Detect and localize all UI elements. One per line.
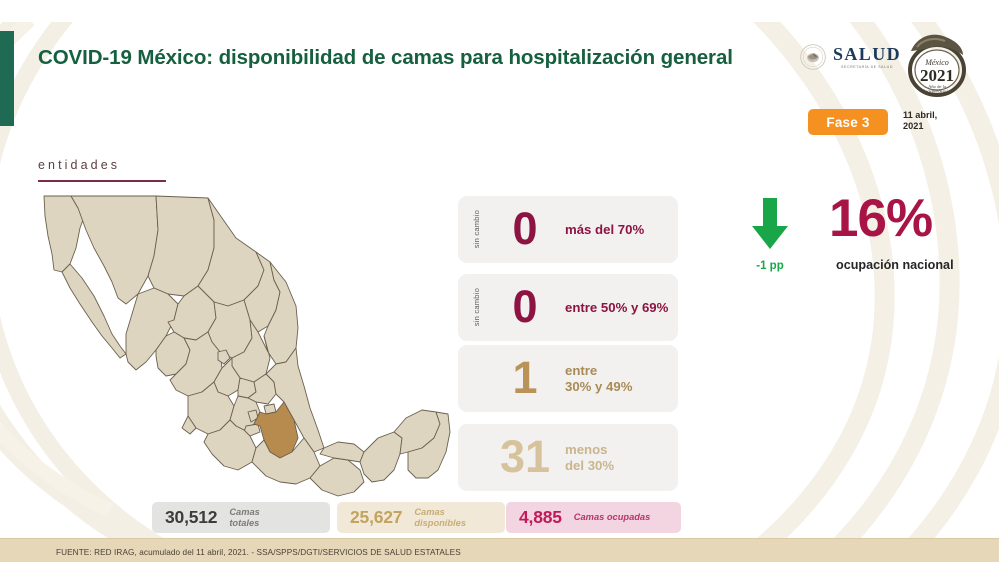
- emblem-year-text: 2021: [920, 66, 954, 85]
- mexico-map-svg: [8, 186, 458, 501]
- state-campeche: [360, 432, 402, 482]
- stat-card-label: entre 30% y 49%: [565, 363, 632, 393]
- salud-subtitle: SECRETARÍA DE SALUD: [833, 65, 901, 69]
- beds-total-value: 30,512: [165, 507, 217, 528]
- stat-card-trend-note: sin cambio: [458, 196, 494, 263]
- salud-logo: SALUD SECRETARÍA DE SALUD: [800, 44, 901, 70]
- national-occupancy-caption: ocupación nacional: [836, 258, 954, 272]
- beds-occupied-box[interactable]: 4,885 Camas ocupadas: [506, 502, 681, 533]
- stat-card-trend-note: [458, 424, 494, 491]
- report-date-line1: 11 abril,: [903, 110, 937, 121]
- stat-card-below-30[interactable]: 31 menos del 30%: [458, 424, 678, 491]
- salud-wordmark: SALUD: [833, 45, 901, 63]
- beds-total-box[interactable]: 30,512 Camas totales: [152, 502, 330, 533]
- footer-source-text: FUENTE: RED IRAG, acumulado del 11 abril…: [56, 548, 461, 557]
- fase-badge[interactable]: Fase 3: [808, 109, 888, 135]
- mexico-choropleth-map[interactable]: [8, 186, 458, 501]
- stat-card-30-49[interactable]: 1 entre 30% y 49%: [458, 345, 678, 412]
- beds-total-label: Camas totales: [229, 507, 260, 529]
- stat-card-label: entre 50% y 69%: [565, 300, 668, 315]
- slide-canvas: COVID-19 México: disponibilidad de camas…: [0, 0, 999, 562]
- national-trend: -1 pp: [741, 196, 799, 272]
- report-date: 11 abril, 2021: [903, 110, 937, 132]
- stat-card-label: más del 70%: [565, 222, 644, 237]
- page-title: COVID-19 México: disponibilidad de camas…: [38, 46, 733, 70]
- arrow-down-icon: [747, 196, 793, 252]
- beds-available-label: Camas disponibles: [414, 507, 466, 529]
- stat-card-label: menos del 30%: [565, 442, 614, 472]
- stat-card-above-70[interactable]: sin cambio 0 más del 70%: [458, 196, 678, 263]
- beds-available-value: 25,627: [350, 507, 402, 528]
- stat-card-trend-note: sin cambio: [458, 274, 494, 341]
- stat-card-value: 0: [494, 286, 556, 329]
- national-occupancy-percent: 16%: [829, 192, 932, 245]
- section-label-entidades: entidades: [38, 158, 120, 172]
- stat-card-trend-note: [458, 345, 494, 412]
- green-accent-bar: [0, 31, 14, 126]
- stat-card-50-69[interactable]: sin cambio 0 entre 50% y 69%: [458, 274, 678, 341]
- stat-card-value: 31: [494, 436, 556, 479]
- svg-text:Independencia: Independencia: [924, 89, 951, 94]
- mexico-seal-icon: [800, 44, 826, 70]
- beds-available-box[interactable]: 25,627 Camas disponibles: [337, 502, 505, 533]
- section-label-underline: [38, 180, 166, 182]
- beds-occupied-value: 4,885: [519, 507, 562, 528]
- beds-occupied-label: Camas ocupadas: [574, 512, 650, 523]
- mexico-2021-emblem: México 2021 Año de la Independencia: [903, 29, 971, 101]
- top-band-cover: [0, 0, 999, 22]
- report-date-line2: 2021: [903, 121, 937, 132]
- stat-card-value: 1: [494, 357, 556, 400]
- stat-card-value: 0: [494, 208, 556, 251]
- state-tabasco: [320, 442, 364, 462]
- national-trend-value: -1 pp: [741, 260, 799, 272]
